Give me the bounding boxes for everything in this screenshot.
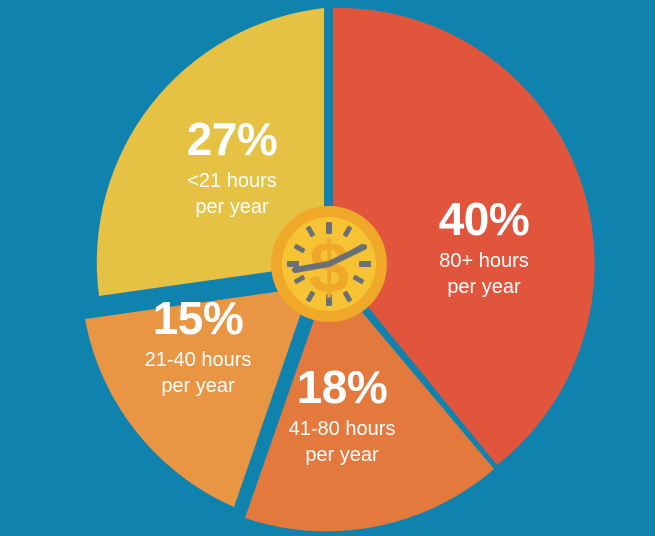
infographic-canvas: $ 40% 80+ hours per year 18% 41-80 hours… <box>0 0 655 536</box>
dollar-clock-icon: $ <box>271 206 387 322</box>
pie-chart: $ <box>0 0 655 536</box>
